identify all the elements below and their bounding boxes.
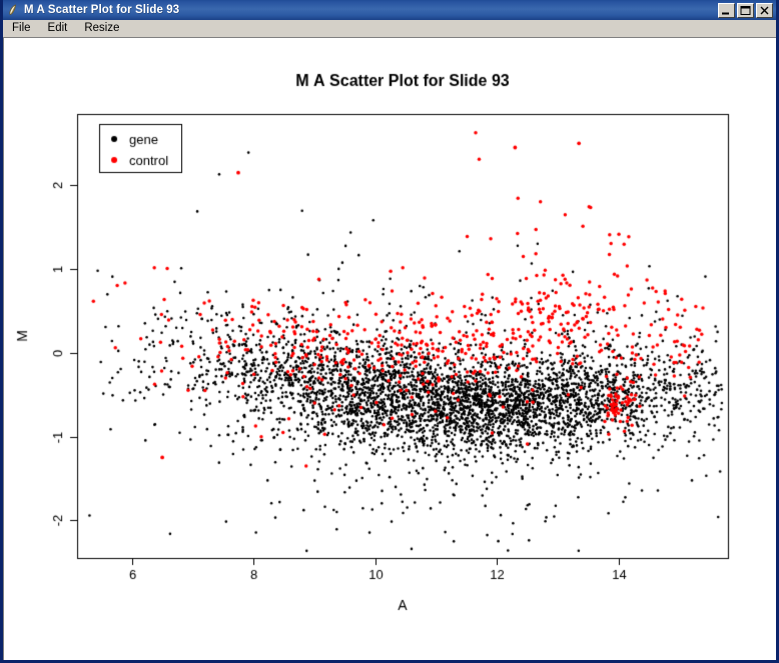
application-icon: [6, 3, 20, 17]
window-controls: [718, 3, 774, 18]
window-title: M A Scatter Plot for Slide 93: [24, 4, 718, 16]
menu-item-edit[interactable]: Edit: [45, 21, 76, 35]
title-bar: M A Scatter Plot for Slide 93: [3, 0, 776, 20]
menu-item-file[interactable]: File: [9, 21, 39, 35]
menu-bar: File Edit Resize: [3, 20, 776, 37]
minimize-button[interactable]: [718, 3, 735, 18]
maximize-button[interactable]: [737, 3, 754, 18]
menu-item-resize[interactable]: Resize: [81, 21, 127, 35]
ma-scatter-plot: [4, 38, 776, 660]
plot-client-area: [3, 37, 776, 660]
close-button[interactable]: [756, 3, 773, 18]
application-window: M A Scatter Plot for Slide 93 File Edit …: [0, 0, 779, 663]
